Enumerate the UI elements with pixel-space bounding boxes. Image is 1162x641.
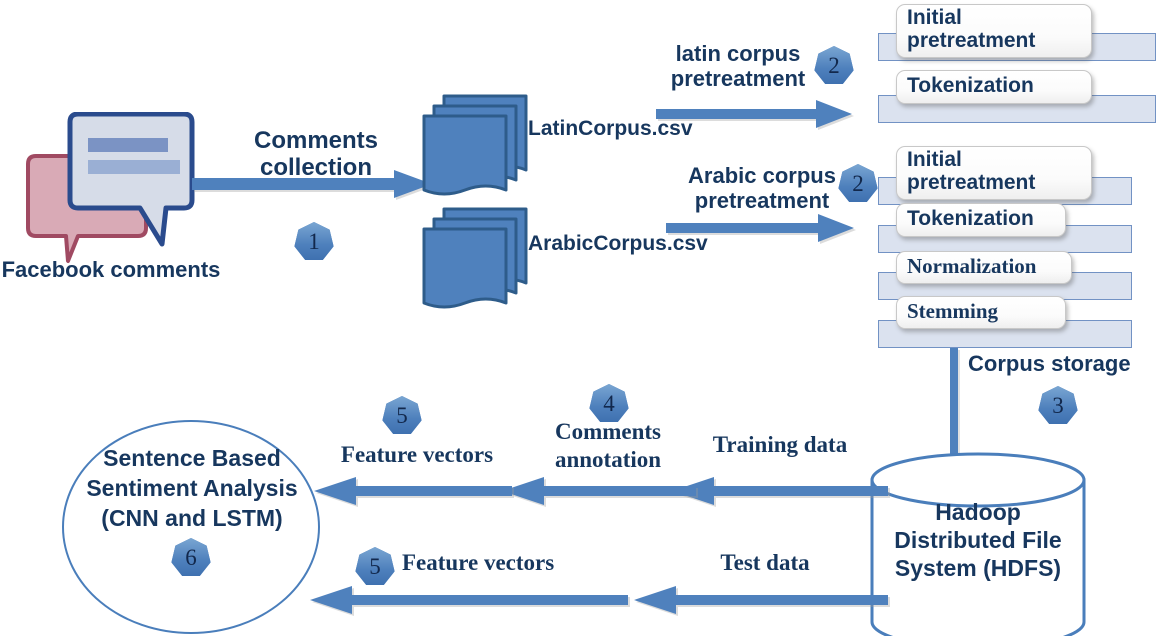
hdfs-label: Hadoop Distributed File System (HDFS) [868, 498, 1088, 582]
latin-stage-label-1: Tokenization [907, 75, 1034, 98]
step-badge-1: 1 [294, 222, 334, 262]
training-data-arrow [670, 477, 888, 505]
feature-vectors-bottom-arrow [308, 586, 628, 614]
latin-stage-chip-1[interactable]: Tokenization [896, 70, 1092, 104]
arabic-stage-label-1: Tokenization [907, 208, 1034, 231]
arabic-stage-label-2: Normalization [907, 255, 1036, 278]
arabic-stage-chip-0[interactable]: Initial pretreatment [896, 146, 1092, 200]
feature-vectors-top-label: Feature vectors [322, 442, 512, 468]
feature-vectors-top-arrow [312, 477, 512, 505]
step-badge-5-training: 5 [382, 396, 422, 436]
arabic-stage-chip-3[interactable]: Stemming [896, 296, 1066, 329]
latin-pretreatment-label: latin corpus pretreatment [648, 42, 828, 91]
corpus-storage-label: Corpus storage [968, 352, 1158, 377]
facebook-comments-caption: Facebook comments [0, 258, 222, 283]
arabic-stage-label-3: Stemming [907, 300, 998, 323]
arabic-stage-chip-1[interactable]: Tokenization [896, 203, 1066, 237]
diagram-canvas: Facebook comments Comments collection 1 … [0, 0, 1162, 636]
step-badge-3: 3 [1038, 386, 1078, 426]
arabic-stage-chip-2[interactable]: Normalization [896, 251, 1072, 284]
latin-stage-label-0: Initial pretreatment [907, 7, 1035, 52]
step-badge-5-test: 5 [355, 547, 395, 587]
sentiment-analysis-label: Sentence Based Sentiment Analysis (CNN a… [62, 444, 322, 534]
latin-corpus-icon [420, 92, 535, 197]
comments-annotation-arrow [500, 477, 696, 505]
feature-vectors-bottom-label: Feature vectors [402, 550, 592, 576]
test-data-label: Test data [690, 550, 840, 576]
comments-collection-arrow [192, 170, 436, 198]
latin-pretreatment-arrow [656, 100, 856, 128]
arabic-stage-label-0: Initial pretreatment [907, 149, 1035, 194]
arabic-corpus-icon [420, 205, 535, 310]
training-data-label: Training data [690, 432, 870, 458]
arabic-pretreatment-arrow [666, 214, 858, 242]
test-data-arrow [632, 586, 888, 614]
latin-stage-chip-0[interactable]: Initial pretreatment [896, 4, 1092, 58]
comments-annotation-label: Comments annotation [518, 418, 698, 473]
arabic-pretreatment-label: Arabic corpus pretreatment [672, 164, 852, 213]
